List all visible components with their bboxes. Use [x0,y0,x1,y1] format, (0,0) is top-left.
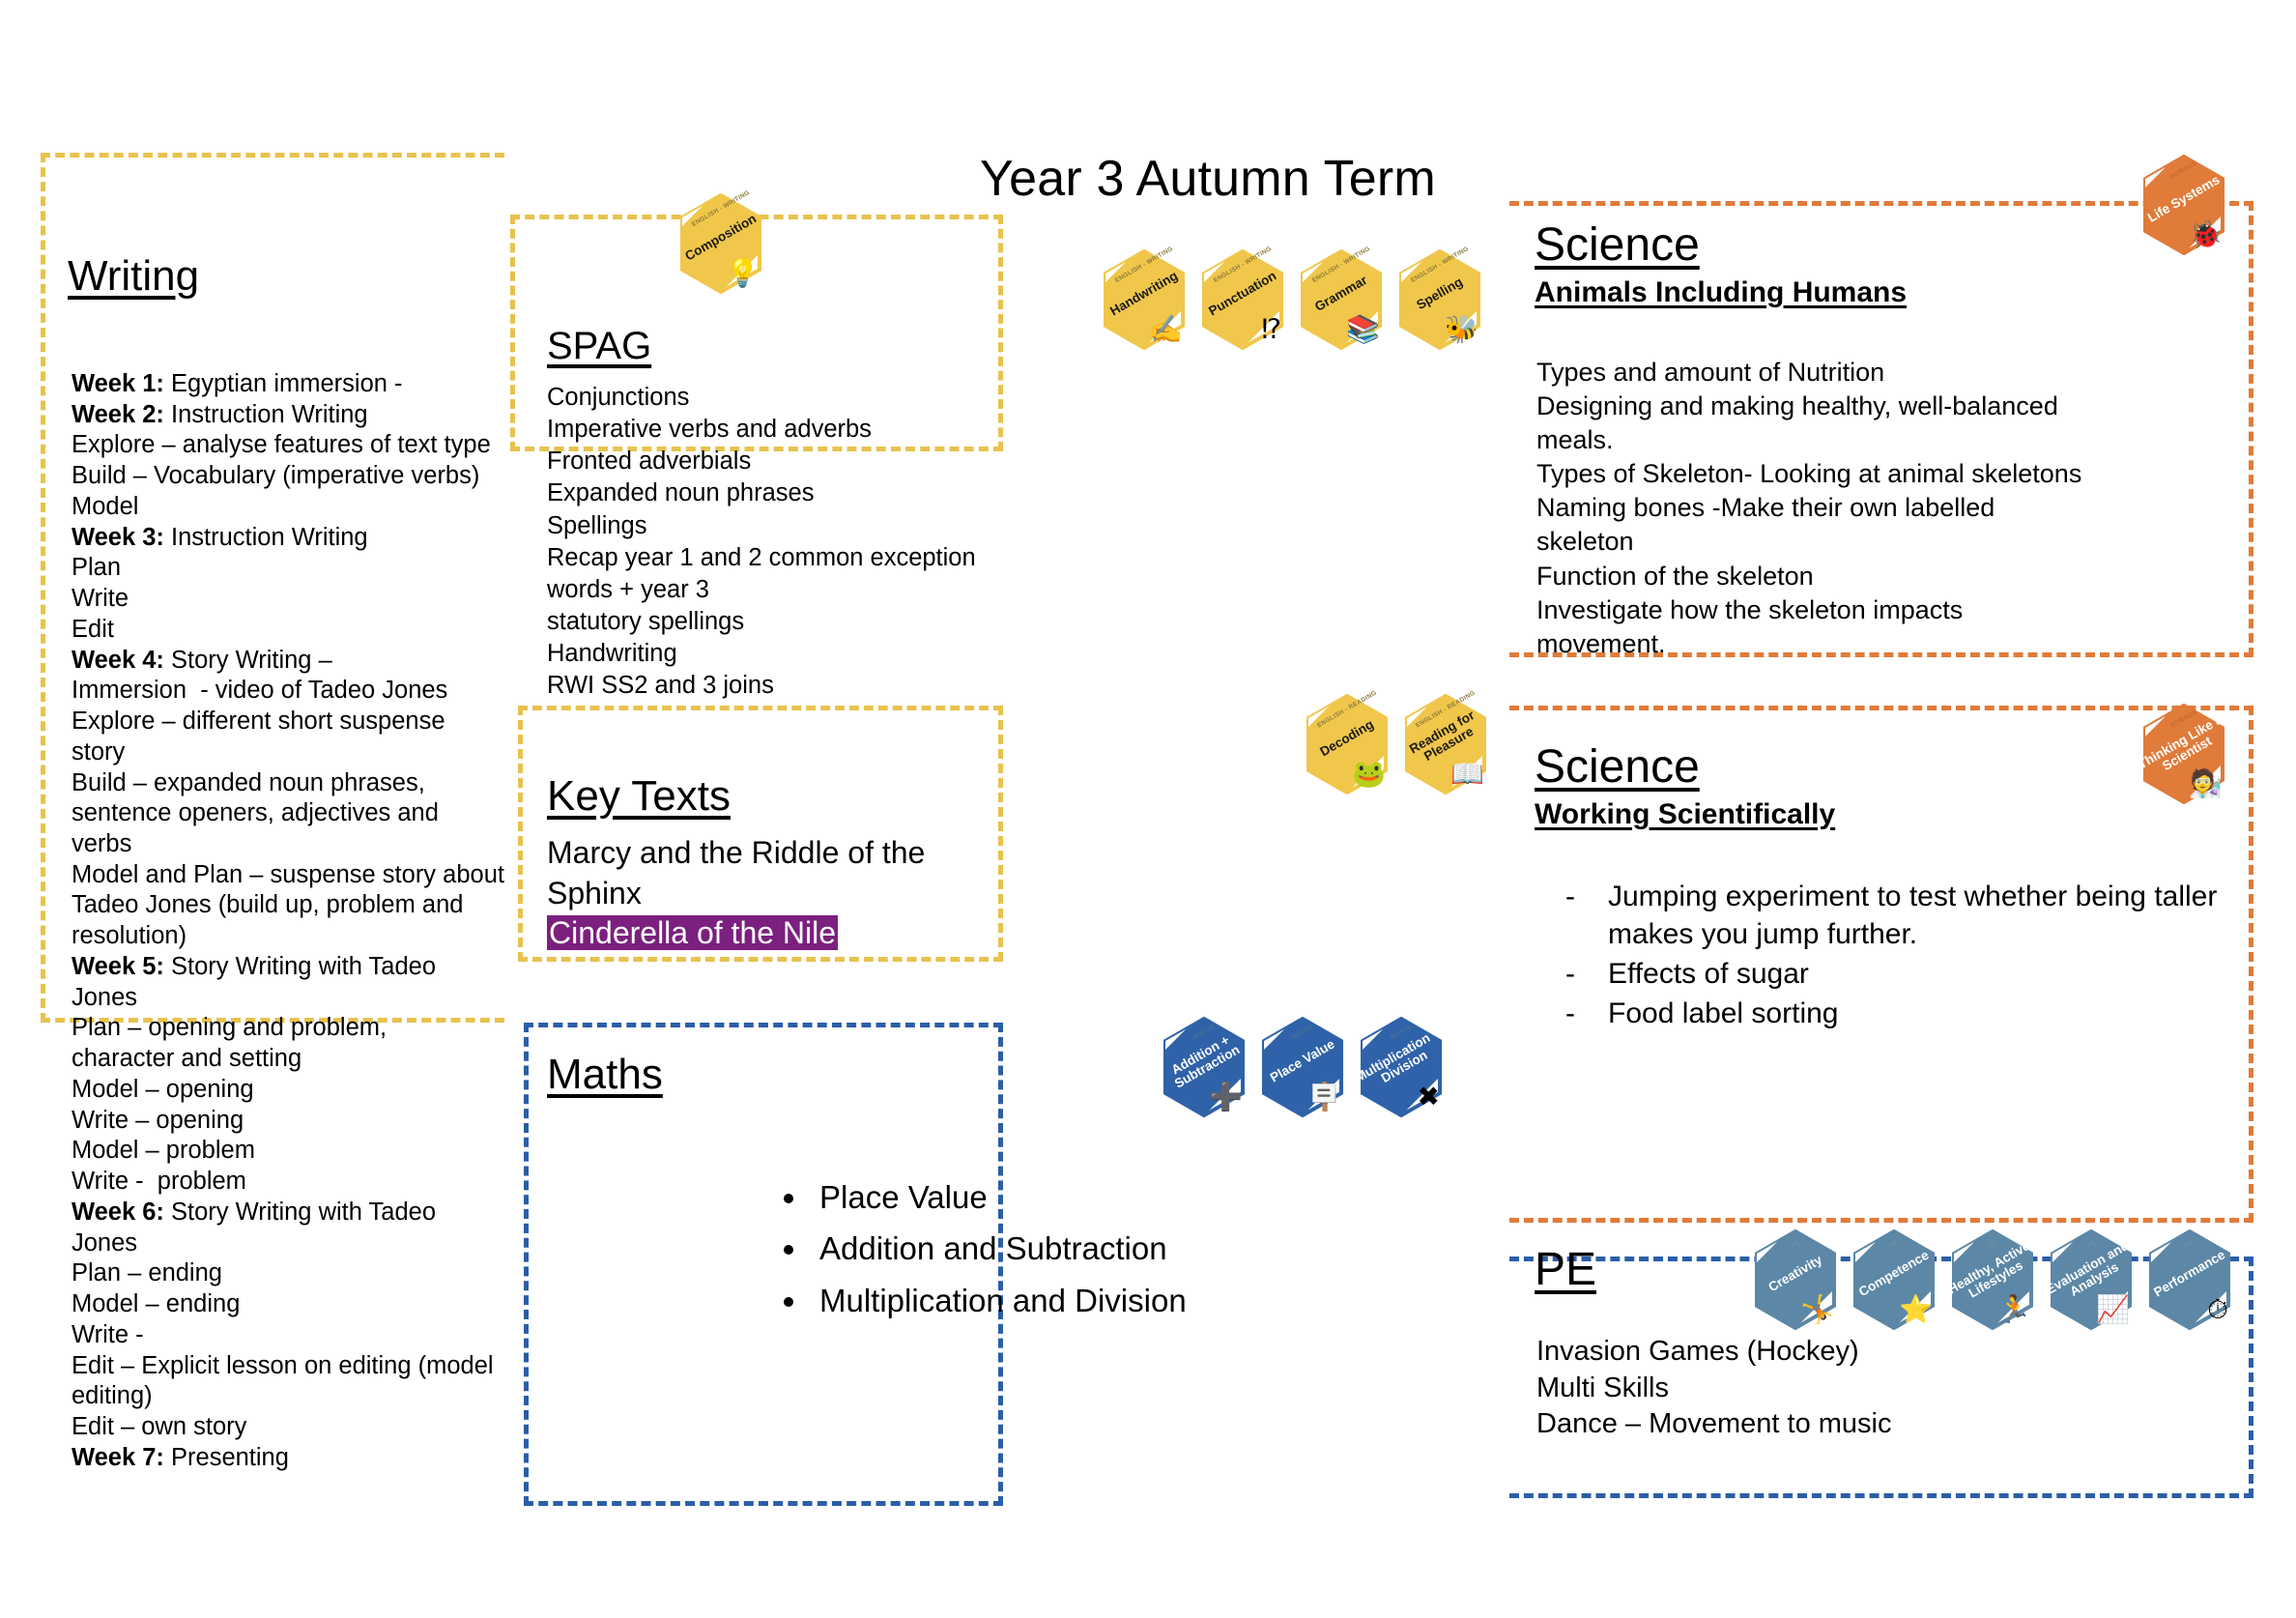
badge-reading-for-pleasure[interactable]: ENGLISH - READINGReading for Pleasure📖 [1401,694,1490,795]
writing-line-lead: Week 5: [72,953,164,980]
science-working-item: Jumping experiment to test whether being… [1542,878,2219,953]
writing-line: Model [72,492,504,523]
badge-place-value[interactable]: MATHSPlace Value🪧 [1258,1017,1347,1117]
science-animals-line: Types of Skeleton- Looking at animal ske… [1536,457,2242,491]
key-text-highlighted: Cinderella of the Nile [547,915,838,950]
badge-creativity[interactable]: PECreativity🤸 [1751,1229,1840,1330]
badge-composition[interactable]: ENGLISH - WRITINGComposition💡 [676,193,765,294]
writing-line: verbs [72,829,504,860]
science-working-heading: Science [1535,742,1835,793]
maths-heading: Maths [547,1052,663,1098]
science-animals-line: Investigate how the skeleton impacts [1536,593,2242,627]
badge-competence[interactable]: PECompetence⭐ [1850,1229,1938,1330]
science-working-heading-wrap: Science Working Scientifically [1535,742,1835,831]
spag-item: Imperative verbs and adverbs [547,414,1001,446]
science-animals-line: Types and amount of Nutrition [1536,356,2242,390]
spag-item: RWI SS2 and 3 joins [547,670,1001,702]
writing-line: resolution) [72,921,504,952]
page-title: Year 3 Autumn Term [870,150,1546,208]
badge-life-systems[interactable]: SCIENCELife Systems🐞 [2139,155,2228,255]
writing-line-lead: Week 3: [72,524,164,551]
writing-line: Build – Vocabulary (imperative verbs) [72,461,504,492]
writing-line: Edit – Explicit lesson on editing (model [72,1351,504,1382]
writing-body: Week 1: Egyptian immersion -Week 2: Inst… [72,369,504,1473]
writing-line-lead: Week 1: [72,370,164,397]
pe-line: Invasion Games (Hockey) [1536,1334,2242,1371]
writing-line: Model and Plan – suspense story about [72,860,504,891]
writing-heading: Writing [68,253,199,300]
writing-line: Model – opening [72,1075,504,1106]
writing-line: sentence openers, adjectives and [72,798,504,829]
maths-item: Place Value [810,1171,1390,1223]
spag-item: Spellings [547,510,1001,542]
writing-line: Edit [72,615,504,646]
science-working-list: Jumping experiment to test whether being… [1542,878,2219,1034]
writing-line: Write - [72,1320,504,1351]
spag-body: ConjunctionsImperative verbs and adverbs… [547,382,1001,702]
pe-line: Multi Skills [1536,1371,2242,1407]
spag-heading-wrap: SPAG [547,326,651,367]
spag-item: statutory spellings [547,606,1001,638]
spag-heading: SPAG [547,326,651,367]
writing-line: Week 2: Instruction Writing [72,400,504,431]
badge-grammar[interactable]: ENGLISH - WRITINGGrammar📚 [1297,249,1386,350]
badge-spelling[interactable]: ENGLISH - WRITINGSpelling🐝 [1395,249,1484,350]
key-texts-heading: Key Texts [547,773,731,820]
science-working-item: Food label sorting [1542,995,2219,1032]
pe-heading: PE [1535,1245,1596,1295]
writing-line: Explore – analyse features of text type [72,430,504,461]
badge-evaluation-and-analysis[interactable]: PEEvaluation and Analysis📈 [2047,1229,2136,1330]
science-animals-line: Function of the skeleton [1536,560,2242,593]
writing-line: editing) [72,1381,504,1412]
science-animals-heading: Science [1535,220,1907,271]
writing-line: Write – opening [72,1106,504,1137]
key-text-line-2: Sphinx [547,874,1001,914]
writing-line: Model – problem [72,1136,504,1167]
writing-line: Week 1: Egyptian immersion - [72,369,504,400]
maths-item: Multiplication and Division [810,1275,1390,1326]
science-animals-line: movement. [1536,627,2242,661]
maths-heading-wrap: Maths [547,1052,663,1098]
writing-line: Edit – own story [72,1412,504,1443]
spag-item: Handwriting [547,638,1001,670]
pe-body: Invasion Games (Hockey)Multi SkillsDance… [1536,1334,2242,1443]
science-animals-heading-wrap: Science Animals Including Humans [1535,220,1907,309]
spag-item: Recap year 1 and 2 common exception word… [547,542,1001,606]
badge-punctuation[interactable]: ENGLISH - WRITINGPunctuation⁉ [1198,249,1287,350]
badge-healthy-active-lifestyles[interactable]: PEHealthy, Active Lifestyles🏃 [1948,1229,2037,1330]
writing-line: Explore – different short suspense story [72,707,504,767]
spag-item: Fronted adverbials [547,446,1001,477]
writing-line: Week 3: Instruction Writing [72,523,504,554]
badge-multiplication-division[interactable]: MATHSMultiplication + Division✖ [1357,1017,1446,1117]
writing-line-lead: Week 2: [72,401,164,428]
writing-heading-wrap: Writing [68,253,199,300]
writing-line: Write [72,584,504,615]
key-text-line-1: Marcy and the Riddle of the [547,833,1001,874]
writing-line: Model – ending [72,1289,504,1320]
science-working-subheading: Working Scientifically [1535,798,1835,832]
badge-performance[interactable]: PEPerformance⏱ [2145,1229,2234,1330]
science-animals-line: Designing and making healthy, well-balan… [1536,390,2242,423]
science-animals-line: Naming bones -Make their own labelled [1536,491,2242,525]
writing-line: Write - problem [72,1167,504,1198]
maths-list: Place ValueAddition and SubtractionMulti… [810,1171,1390,1326]
badge-thinking-like-a-scientist[interactable]: SCIENCEThinking Like a Scientist🧑‍🔬 [2139,704,2228,804]
writing-line: Immersion - video of Tadeo Jones [72,676,504,707]
badge-addition-subtraction[interactable]: MATHSAddition + Subtraction➕ [1160,1017,1248,1117]
writing-line: Tadeo Jones (build up, problem and [72,890,504,921]
spag-item: Expanded noun phrases [547,477,1001,509]
writing-line: character and setting [72,1044,504,1075]
writing-line: Week 6: Story Writing with Tadeo Jones [72,1198,504,1258]
writing-line-lead: Week 4: [72,647,164,674]
key-texts-heading-wrap: Key Texts [547,773,731,820]
writing-line: Build – expanded noun phrases, [72,768,504,799]
writing-line: Plan – opening and problem, [72,1013,504,1044]
badge-handwriting[interactable]: ENGLISH - WRITINGHandwriting✍ [1100,249,1189,350]
science-animals-line: meals. [1536,423,2242,457]
writing-line: Plan [72,553,504,584]
science-animals-body: Types and amount of NutritionDesigning a… [1536,356,2242,661]
writing-line: Week 7: Presenting [72,1443,504,1474]
key-texts-body: Marcy and the Riddle of the Sphinx Cinde… [547,833,1001,954]
writing-line: Plan – ending [72,1258,504,1289]
pe-line: Dance – Movement to music [1536,1406,2242,1443]
writing-line-lead: Week 6: [72,1199,164,1226]
spag-item: Conjunctions [547,382,1001,414]
science-working-item: Effects of sugar [1542,955,2219,993]
writing-line: Week 5: Story Writing with Tadeo Jones [72,952,504,1013]
writing-line: Week 4: Story Writing – [72,646,504,677]
writing-line-lead: Week 7: [72,1444,164,1471]
maths-item: Addition and Subtraction [810,1223,1390,1274]
science-animals-subheading: Animals Including Humans [1535,276,1907,310]
science-animals-line: skeleton [1536,525,2242,559]
badge-decoding[interactable]: ENGLISH - READINGDecoding🐸 [1303,694,1392,795]
pe-heading-wrap: PE [1535,1245,1596,1295]
